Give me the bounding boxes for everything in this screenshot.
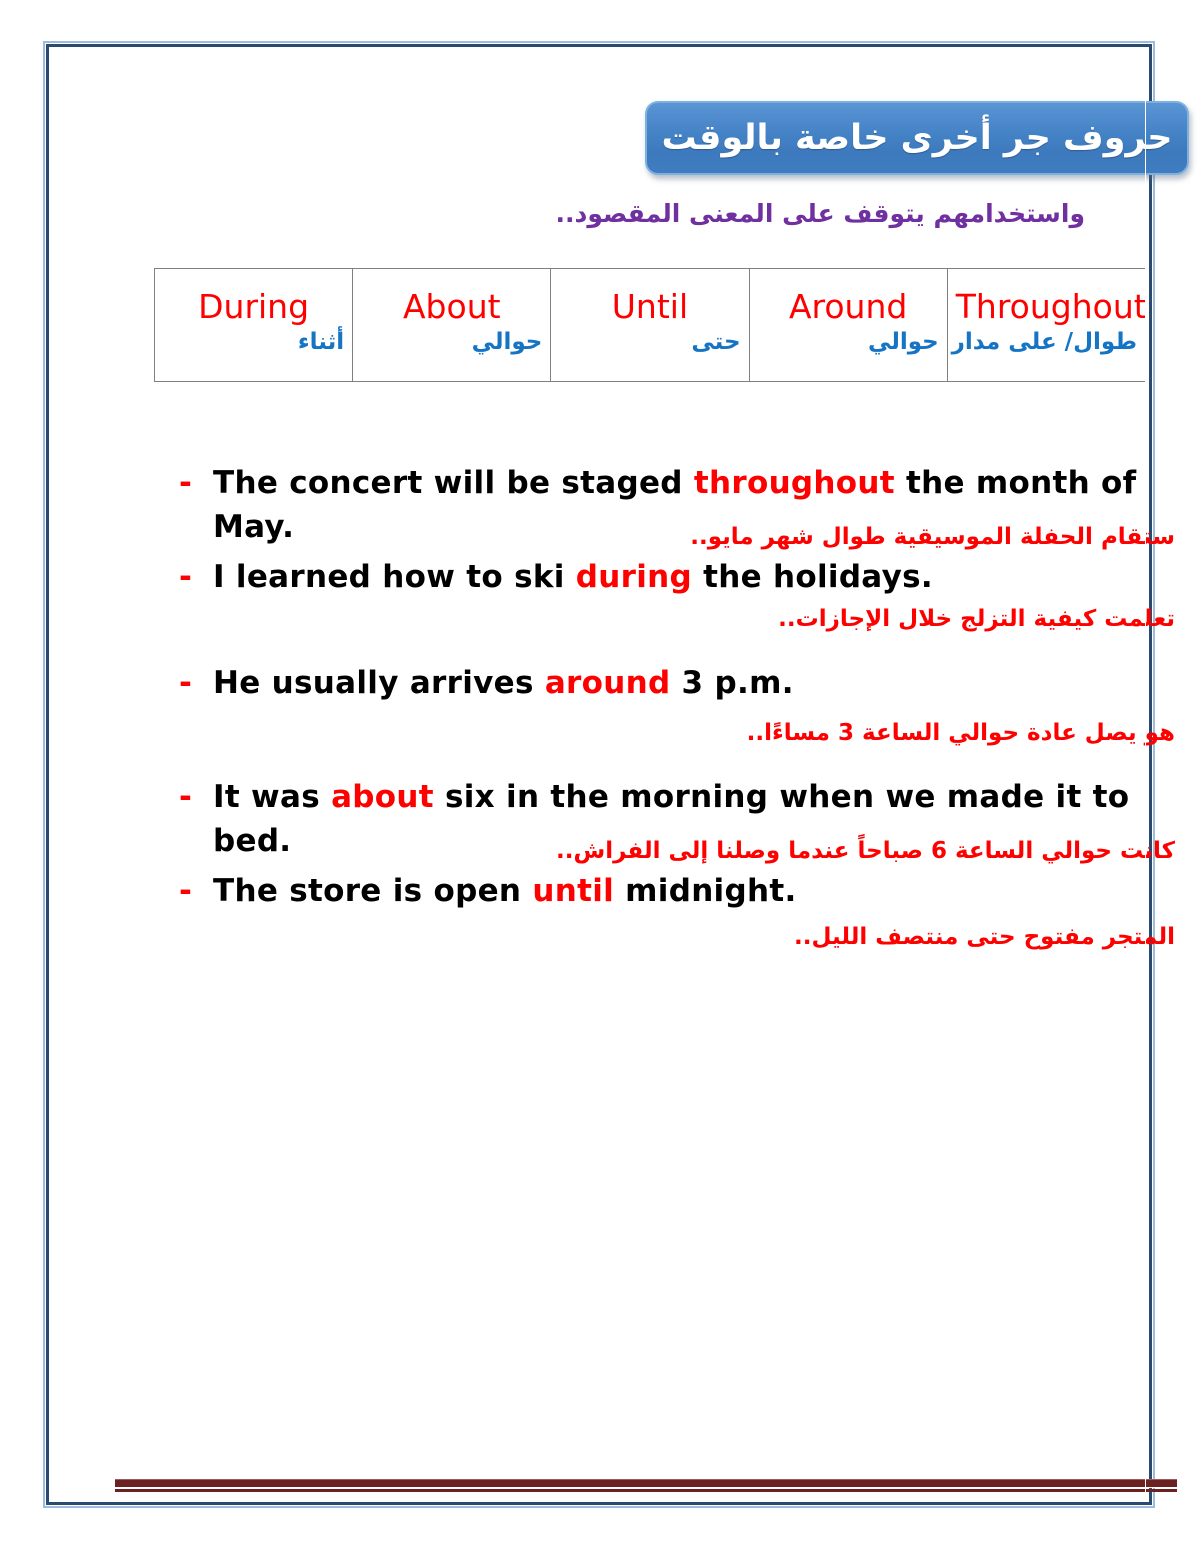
term-english: Throughout: [956, 289, 1137, 326]
table-cell-around: Around حوالي: [749, 269, 947, 382]
title-banner: حروف جر أخرى خاصة بالوقت: [645, 101, 1189, 175]
page-subtitle: واستخدامهم يتوقف على المعنى المقصود..: [385, 199, 1085, 228]
term-english: Around: [758, 289, 939, 326]
sentence-after: 3 p.m.: [670, 665, 793, 701]
example-item: -It was about six in the morning when we…: [179, 775, 1179, 863]
table-row: During أثناء About حوالي Until حتى Aroun…: [155, 269, 1146, 382]
bullet-dash: -: [179, 555, 213, 599]
bullet-dash: -: [179, 869, 213, 913]
bullet-dash: -: [179, 775, 213, 819]
term-arabic: حوالي: [758, 329, 939, 357]
term-arabic: أثناء: [163, 329, 344, 357]
highlighted-preposition: around: [545, 665, 671, 701]
term-arabic: حتى: [559, 329, 740, 357]
term-english: During: [163, 289, 344, 326]
bullet-dash: -: [179, 461, 213, 505]
example-sentence-arabic: تعلمت كيفية التزلج خلال الإجازات..: [179, 605, 1179, 635]
sentence-after: the holidays.: [692, 559, 933, 595]
sentence-after: midnight.: [614, 873, 796, 909]
sentence-before: He usually arrives: [213, 665, 545, 701]
sentence-before: The concert will be staged: [213, 465, 694, 501]
preposition-table: During أثناء About حوالي Until حتى Aroun…: [154, 268, 1146, 382]
page-frame: حروف جر أخرى خاصة بالوقت واستخدامهم يتوق…: [46, 44, 1152, 1505]
bullet-dash: -: [179, 661, 213, 705]
example-sentence-english: -I learned how to ski during the holiday…: [179, 555, 1179, 599]
table-cell-during: During أثناء: [155, 269, 353, 382]
page-title: حروف جر أخرى خاصة بالوقت: [662, 118, 1173, 158]
table-cell-about: About حوالي: [353, 269, 551, 382]
example-sentence-arabic: ستقام الحفلة الموسيقية طوال شهر مايو..: [690, 523, 1175, 553]
example-sentence-arabic: كانت حوالي الساعة 6 صباحاً عندما وصلنا إ…: [556, 837, 1175, 867]
term-arabic: حوالي: [361, 329, 542, 357]
term-arabic: طوال/ على مدار: [956, 329, 1137, 357]
highlighted-preposition: during: [576, 559, 692, 595]
example-item: -The store is open until midnight. المتج…: [179, 869, 1179, 953]
example-sentence-arabic: المتجر مفتوح حتى منتصف الليل..: [179, 923, 1179, 953]
highlighted-preposition: throughout: [694, 465, 895, 501]
highlighted-preposition: about: [331, 779, 434, 815]
example-item: -I learned how to ski during the holiday…: [179, 555, 1179, 635]
sentence-before: I learned how to ski: [213, 559, 576, 595]
table-cell-throughout: Throughout طوال/ على مدار: [947, 269, 1145, 382]
example-sentence-english: -The store is open until midnight.: [179, 869, 1179, 913]
sentence-before: The store is open: [213, 873, 532, 909]
footer-rule: [115, 1479, 1177, 1492]
example-sentence-english: -He usually arrives around 3 p.m.: [179, 661, 1179, 705]
footer-rule-thick: [115, 1479, 1177, 1488]
example-item: -He usually arrives around 3 p.m. هو يصل…: [179, 661, 1179, 749]
term-english: Until: [559, 289, 740, 326]
table-cell-until: Until حتى: [551, 269, 749, 382]
highlighted-preposition: until: [532, 873, 614, 909]
term-english: About: [361, 289, 542, 326]
footer-rule-thin: [115, 1489, 1177, 1492]
example-item: -The concert will be staged throughout t…: [179, 461, 1179, 549]
examples-list: -The concert will be staged throughout t…: [179, 461, 1179, 961]
example-sentence-arabic: هو يصل عادة حوالي الساعة 3 مساءًا..: [179, 719, 1179, 749]
sentence-before: It was: [213, 779, 331, 815]
